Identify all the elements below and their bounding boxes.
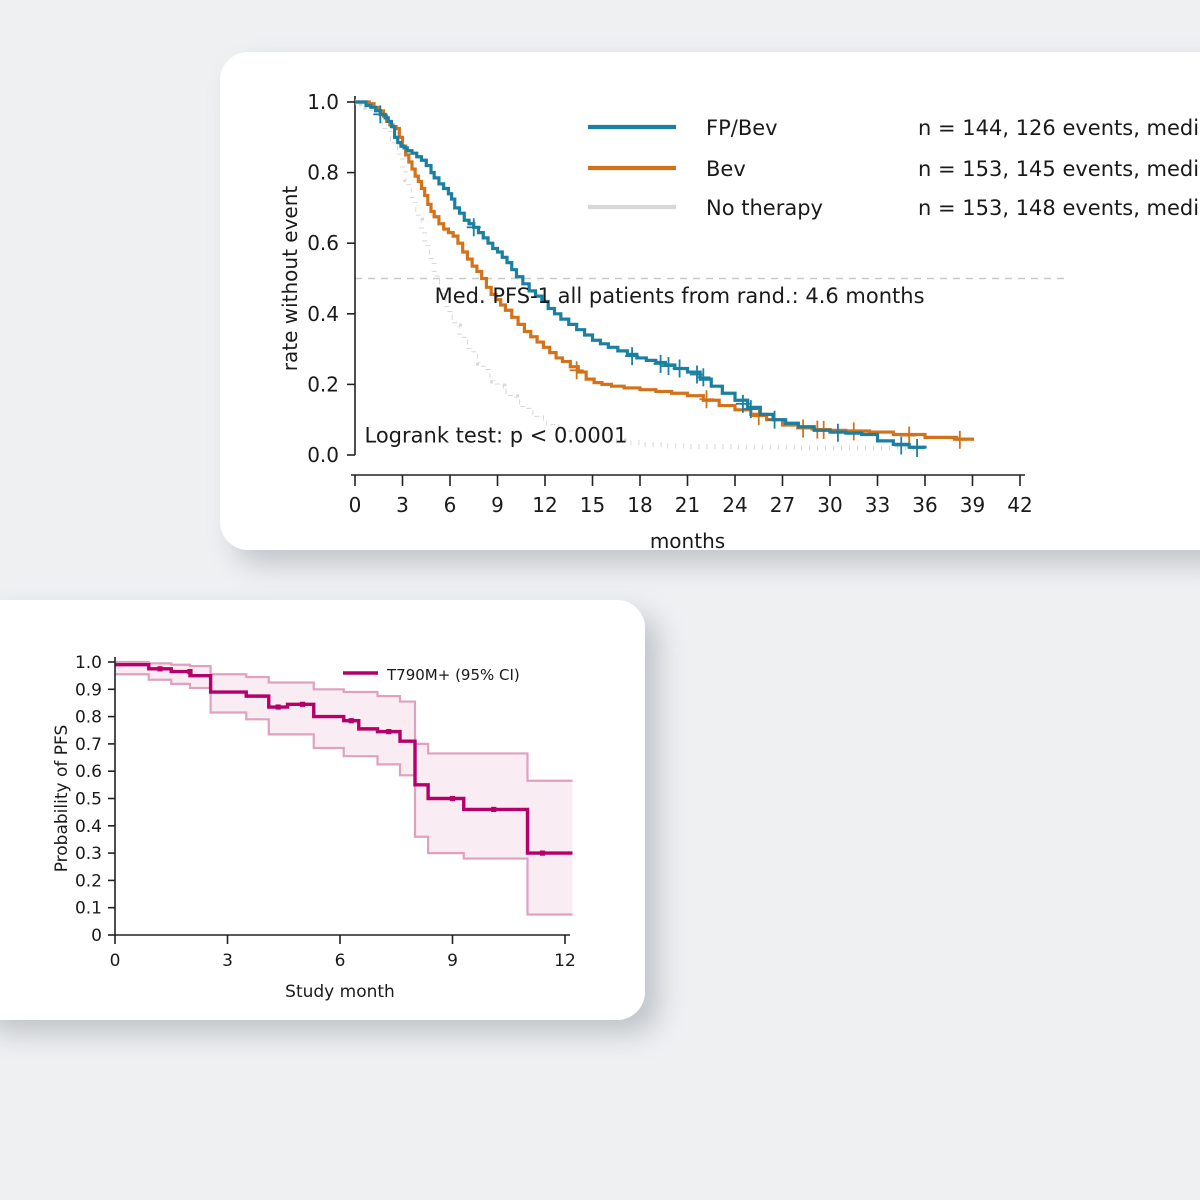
- censor-mark: [654, 355, 668, 373]
- y-tick-label: 0.7: [75, 735, 102, 755]
- x-tick-label: 6: [335, 951, 346, 971]
- x-axis-label: months: [650, 529, 725, 550]
- legend-stats-1: n = 153, 145 events, median = 4.6 months: [918, 157, 1200, 181]
- legend-label-0: FP/Bev: [706, 116, 778, 140]
- x-tick-label: 6: [444, 493, 457, 517]
- censor-mark: [349, 718, 354, 723]
- x-axis-label: Study month: [285, 982, 395, 1002]
- y-tick-label: 0.4: [75, 817, 102, 837]
- y-tick-label: 0.1: [75, 899, 102, 919]
- legend-stats-2: n = 153, 148 events, median = 3.6 months: [918, 196, 1200, 220]
- y-tick-label: 0.6: [307, 231, 339, 255]
- censor-mark: [700, 390, 714, 408]
- censor-mark: [690, 366, 704, 384]
- y-axis-label: Probability of PFS: [52, 725, 72, 873]
- y-tick-label: 1.0: [307, 90, 339, 114]
- censor-mark: [157, 666, 162, 671]
- censor-mark: [491, 807, 496, 812]
- censor-mark: [902, 427, 916, 445]
- censor-mark: [540, 851, 545, 856]
- x-tick-label: 0: [349, 493, 362, 517]
- km-t790m-card: 00.10.20.30.40.50.60.70.80.91.0036912Stu…: [0, 600, 645, 1020]
- x-tick-label: 36: [912, 493, 937, 517]
- censor-mark: [953, 431, 967, 449]
- y-tick-label: 0.4: [307, 302, 339, 326]
- censor-mark: [894, 436, 908, 454]
- x-tick-label: 3: [396, 493, 409, 517]
- censor-mark: [300, 702, 305, 707]
- y-tick-label: 0.3: [75, 844, 102, 864]
- censor-mark: [276, 704, 281, 709]
- km-combined-card: 0.00.20.40.60.81.00369121518212427303336…: [220, 52, 1200, 550]
- km-curve-no-therapy: [355, 102, 925, 448]
- x-tick-label: 21: [675, 493, 700, 517]
- censor-mark: [673, 360, 687, 378]
- censor-mark: [187, 669, 192, 674]
- y-tick-label: 0: [91, 926, 102, 946]
- legend-label-2: No therapy: [706, 196, 823, 220]
- x-tick-label: 42: [1007, 493, 1032, 517]
- y-tick-label: 0.2: [75, 871, 102, 891]
- y-axis-label: rate without event: [278, 186, 302, 372]
- annotation-logrank-note: Logrank test: p < 0.0001: [365, 424, 628, 448]
- km-combined-chart: 0.00.20.40.60.81.00369121518212427303336…: [220, 52, 1200, 550]
- x-tick-label: 9: [491, 493, 504, 517]
- censor-mark: [662, 357, 676, 375]
- ci-band-fill: [115, 662, 573, 915]
- x-tick-label: 24: [722, 493, 747, 517]
- x-tick-label: 15: [580, 493, 605, 517]
- y-tick-label: 0.5: [75, 790, 102, 810]
- annotation-median-pfs-note: Med. PFS-1 all patients from rand.: 4.6 …: [435, 284, 925, 308]
- x-tick-label: 12: [532, 493, 557, 517]
- y-tick-label: 0.9: [75, 680, 102, 700]
- legend-stats-0: n = 144, 126 events, median = 6.2 months: [918, 116, 1200, 140]
- x-tick-label: 3: [222, 951, 233, 971]
- y-tick-label: 1.0: [75, 653, 102, 673]
- y-tick-label: 0.0: [307, 443, 339, 467]
- x-tick-label: 18: [627, 493, 652, 517]
- km-t790m-chart: 00.10.20.30.40.50.60.70.80.91.0036912Stu…: [0, 600, 645, 1020]
- y-tick-label: 0.8: [307, 161, 339, 185]
- x-tick-label: 12: [554, 951, 576, 971]
- km-curve-bev: [355, 102, 973, 441]
- censor-mark: [847, 422, 861, 440]
- legend-label-1: Bev: [706, 157, 746, 181]
- x-tick-label: 0: [110, 951, 121, 971]
- censor-mark: [910, 439, 924, 457]
- y-tick-label: 0.8: [75, 708, 102, 728]
- x-tick-label: 27: [770, 493, 795, 517]
- censor-mark: [831, 424, 845, 442]
- censor-mark: [450, 796, 455, 801]
- km-curve-fp-bev: [355, 102, 925, 449]
- x-tick-label: 33: [865, 493, 890, 517]
- legend-label-t790m: T790M+ (95% CI): [386, 666, 520, 684]
- x-tick-label: 30: [817, 493, 842, 517]
- censor-mark: [386, 729, 391, 734]
- y-tick-label: 0.2: [307, 372, 339, 396]
- x-tick-label: 39: [960, 493, 985, 517]
- y-tick-label: 0.6: [75, 762, 102, 782]
- x-tick-label: 9: [447, 951, 458, 971]
